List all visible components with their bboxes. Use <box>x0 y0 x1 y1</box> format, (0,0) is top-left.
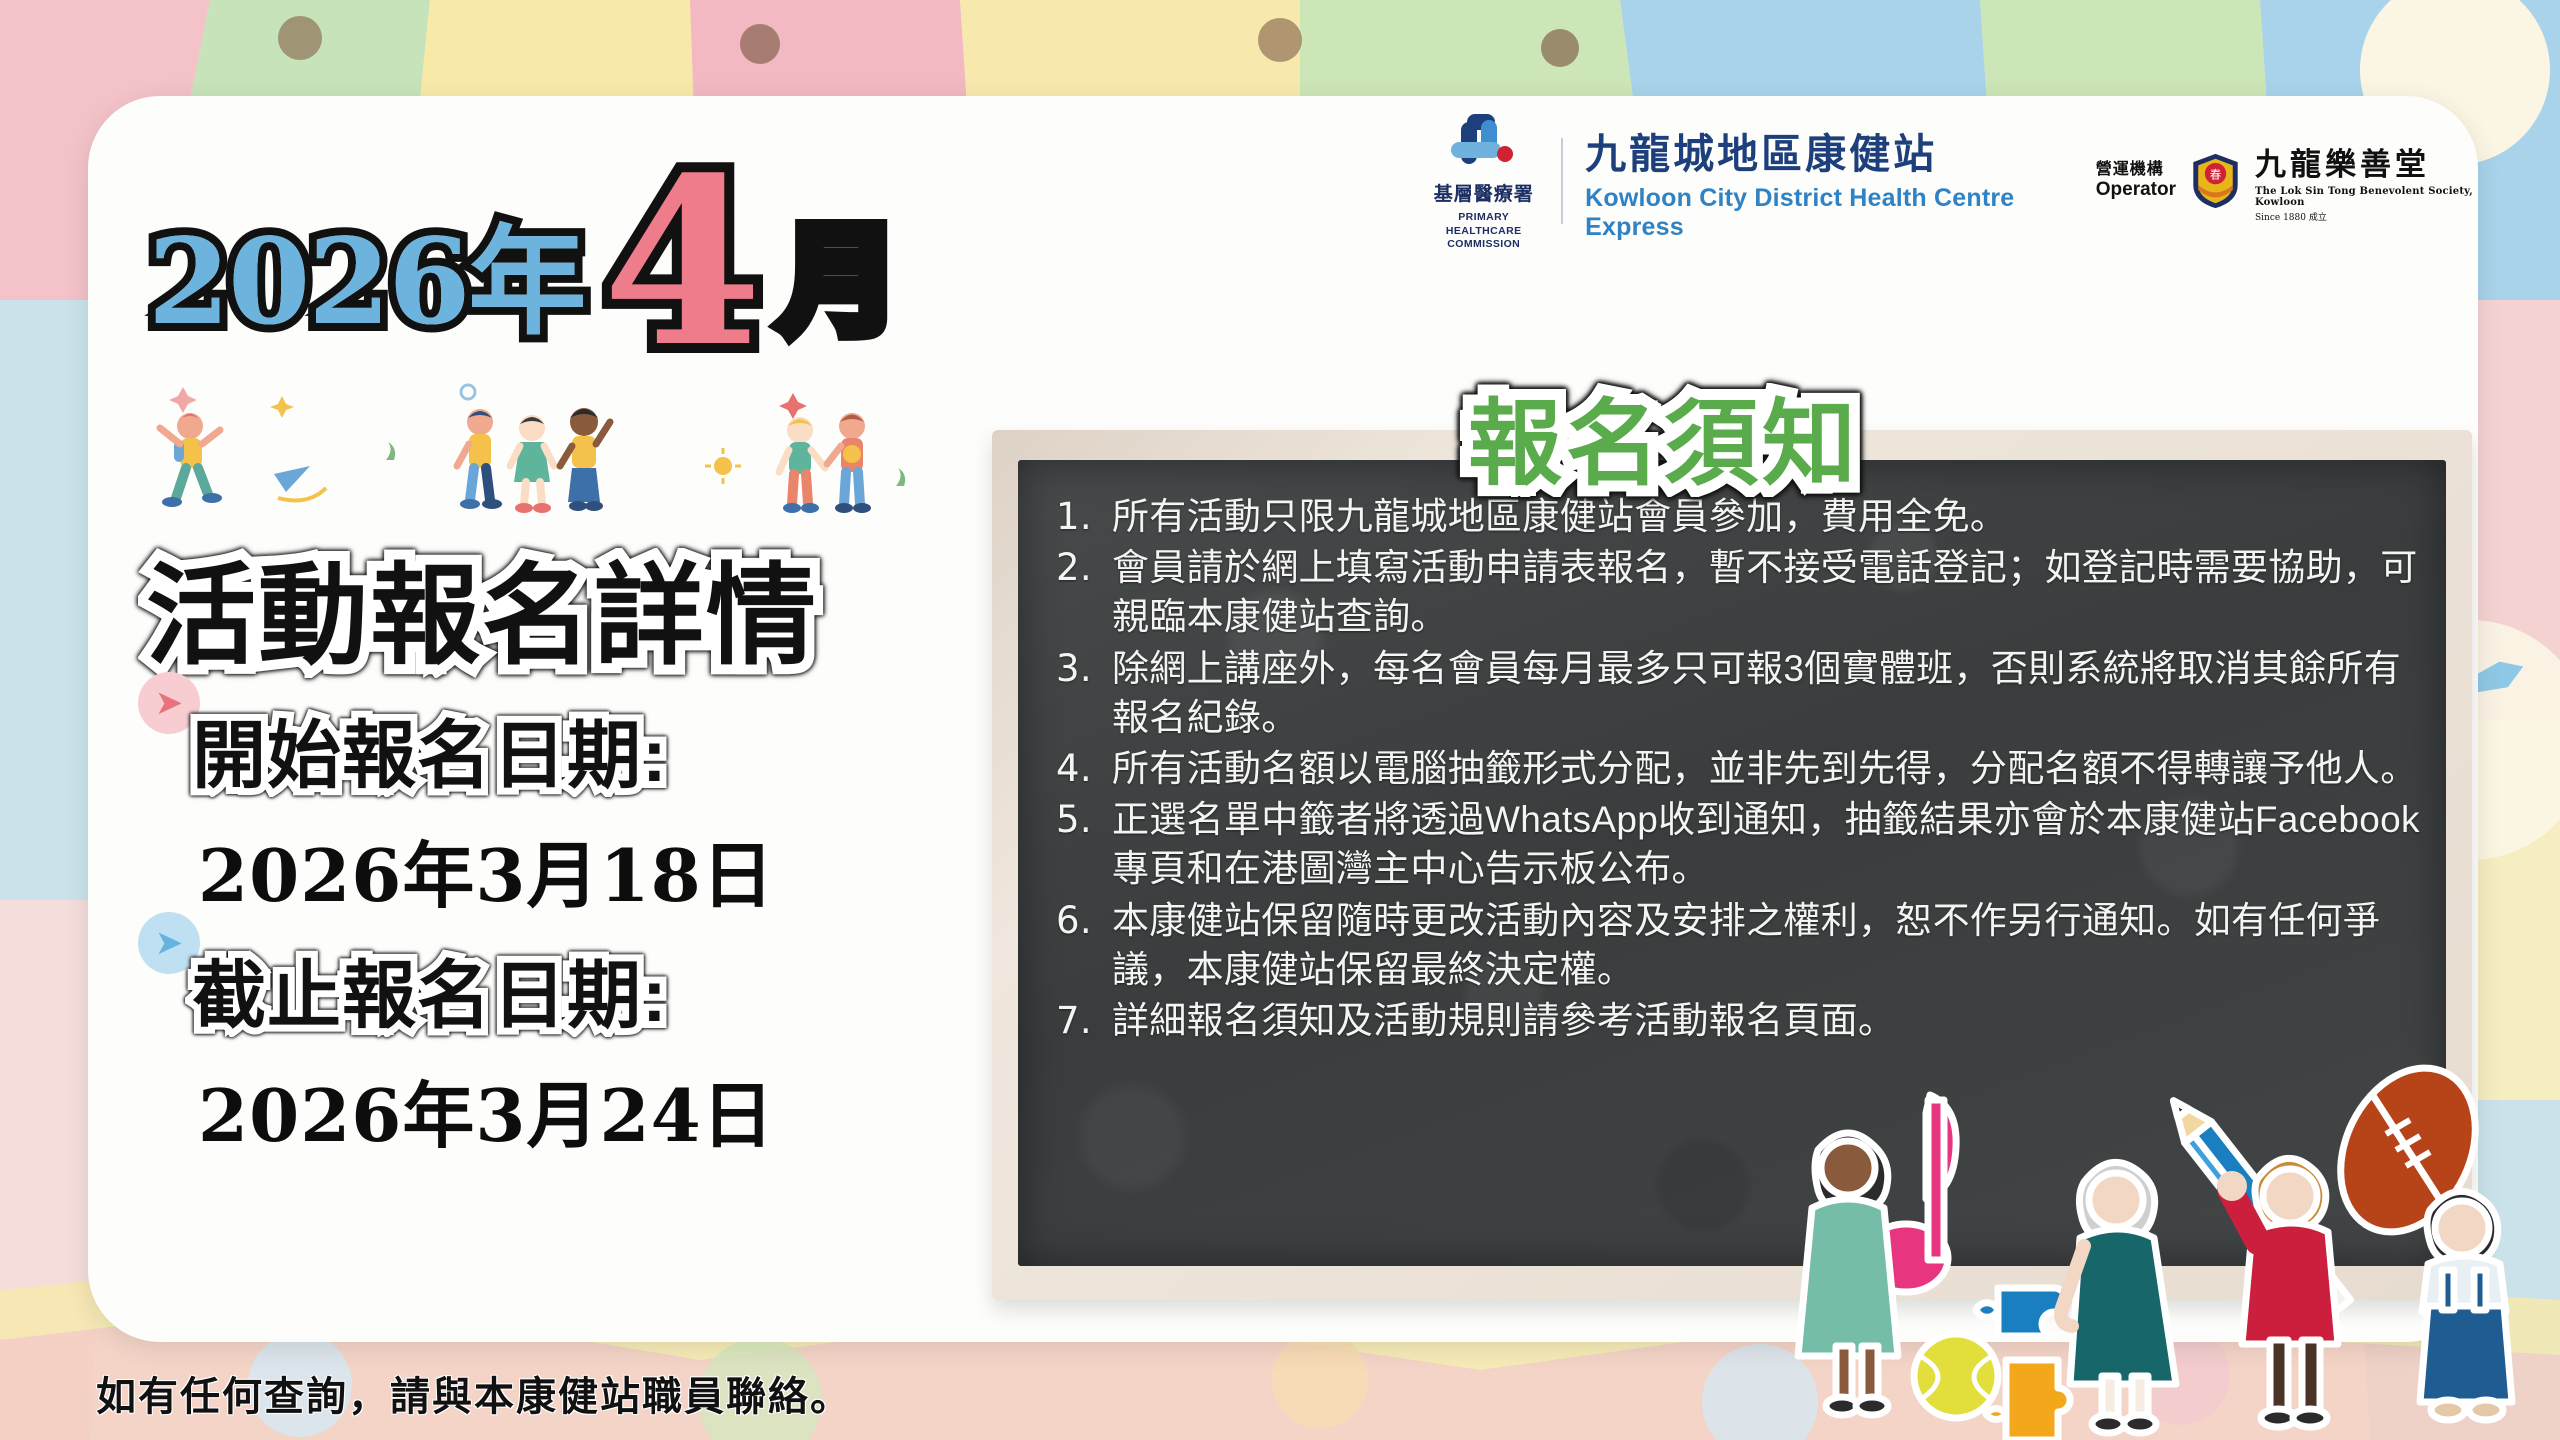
centre-name-zh: 九龍城地區康健站 <box>1585 120 2044 180</box>
operator-since: Since 1880 成立 <box>2255 210 2478 223</box>
date-heading: 2026年 4 月 <box>148 156 898 335</box>
chalkboard-surface: 所有活動只限九龍城地區康健站會員參加，費用全免。 會員請於網上填寫活動申請表報名… <box>1018 460 2446 1266</box>
registration-end-label: 截止報名日期: <box>192 936 775 1043</box>
people-illustration-svg <box>128 374 948 524</box>
primary-healthcare-logo: 基層醫療署 PRIMARY HEALTHCARE COMMISSION 九龍城地… <box>1428 110 2044 252</box>
list-item: 所有活動名額以電腦抽籤形式分配，並非先到先得，分配名額不得轉讓予他人。 <box>1050 744 2420 793</box>
operator-name-zh: 九龍樂善堂 <box>2255 139 2478 184</box>
registration-rules-list: 所有活動只限九龍城地區康健站會員參加，費用全免。 會員請於網上填寫活動申請表報名… <box>1050 492 2420 1045</box>
year-label: 2026年 <box>148 229 584 335</box>
month-number: 4 <box>602 174 762 353</box>
registration-end-block: ➤ 截止報名日期: 2026年3月24日 <box>146 936 775 1162</box>
pink-bird-icon: ➤ <box>138 672 200 734</box>
centre-name-en: Kowloon City District Health Centre Expr… <box>1585 184 2044 242</box>
registration-start-block: ➤ 開始報名日期: 2026年3月18日 <box>146 696 775 922</box>
chalkboard-frame: 所有活動只限九龍城地區康健站會員參加，費用全免。 會員請於網上填寫活動申請表報名… <box>992 430 2472 1300</box>
list-item: 除網上講座外，每名會員每月最多只可報3個實體班，否則系統將取消其餘所有報名紀錄。 <box>1050 644 2420 742</box>
registration-start-label: 開始報名日期: <box>192 696 775 803</box>
logo-bar: 基層醫療署 PRIMARY HEALTHCARE COMMISSION 九龍城地… <box>1428 110 2478 252</box>
operator-label: 營運機構 Operator <box>2096 161 2176 201</box>
list-item: 詳細報名須知及活動規則請參考活動報名頁面。 <box>1050 996 2420 1045</box>
svg-text:春: 春 <box>2210 167 2222 181</box>
phc-name-zh: 基層醫療署 <box>1434 179 1534 206</box>
operator-names: 九龍樂善堂 The Lok Sin Tong Benevolent Societ… <box>2255 139 2478 223</box>
board-title: 報名須知 <box>1468 368 1860 504</box>
operator-label-en: Operator <box>2096 179 2176 201</box>
operator-name-en: The Lok Sin Tong Benevolent Society, Kow… <box>2255 186 2478 208</box>
left-column: 2026年 4 月 <box>88 96 988 1342</box>
month-character: 月 <box>780 229 898 335</box>
registration-end-value: 2026年3月24日 <box>198 1057 775 1162</box>
people-illustration <box>128 374 948 524</box>
list-item: 會員請於網上填寫活動申請表報名，暫不接受電話登記；如登記時需要協助，可親臨本康健… <box>1050 543 2420 641</box>
phc-symbol-icon <box>1445 110 1523 174</box>
phc-name-en-line2: COMMISSION <box>1447 238 1520 250</box>
blue-bird-icon: ➤ <box>138 912 200 974</box>
operator-logo: 營運機構 Operator 春 九龍樂善堂 The Lok Sin Tong B… <box>2096 139 2478 223</box>
right-column: 基層醫療署 PRIMARY HEALTHCARE COMMISSION 九龍城地… <box>968 96 2478 1342</box>
page-title: 活動報名詳情 <box>146 526 818 686</box>
footer-note: 如有任何查詢，請與本康健站職員聯絡。 <box>96 1364 852 1422</box>
list-item: 正選名單中籤者將透過WhatsApp收到通知，抽籤結果亦會於本康健站Facebo… <box>1050 795 2420 893</box>
phc-mark: 基層醫療署 PRIMARY HEALTHCARE COMMISSION <box>1428 110 1539 252</box>
logo-divider <box>1561 138 1563 224</box>
main-card: 2026年 4 月 <box>88 96 2478 1342</box>
operator-label-zh: 營運機構 <box>2096 161 2176 179</box>
phc-name-en: PRIMARY HEALTHCARE COMMISSION <box>1428 211 1539 252</box>
phc-name-en-line1: PRIMARY HEALTHCARE <box>1446 211 1522 237</box>
registration-start-value: 2026年3月18日 <box>198 817 775 922</box>
list-item: 本康健站保留隨時更改活動內容及安排之權利，恕不作另行通知。如有任何爭議，本康健站… <box>1050 896 2420 994</box>
centre-names: 九龍城地區康健站 Kowloon City District Health Ce… <box>1585 120 2044 242</box>
lok-sin-tong-crest-icon: 春 <box>2190 146 2241 216</box>
